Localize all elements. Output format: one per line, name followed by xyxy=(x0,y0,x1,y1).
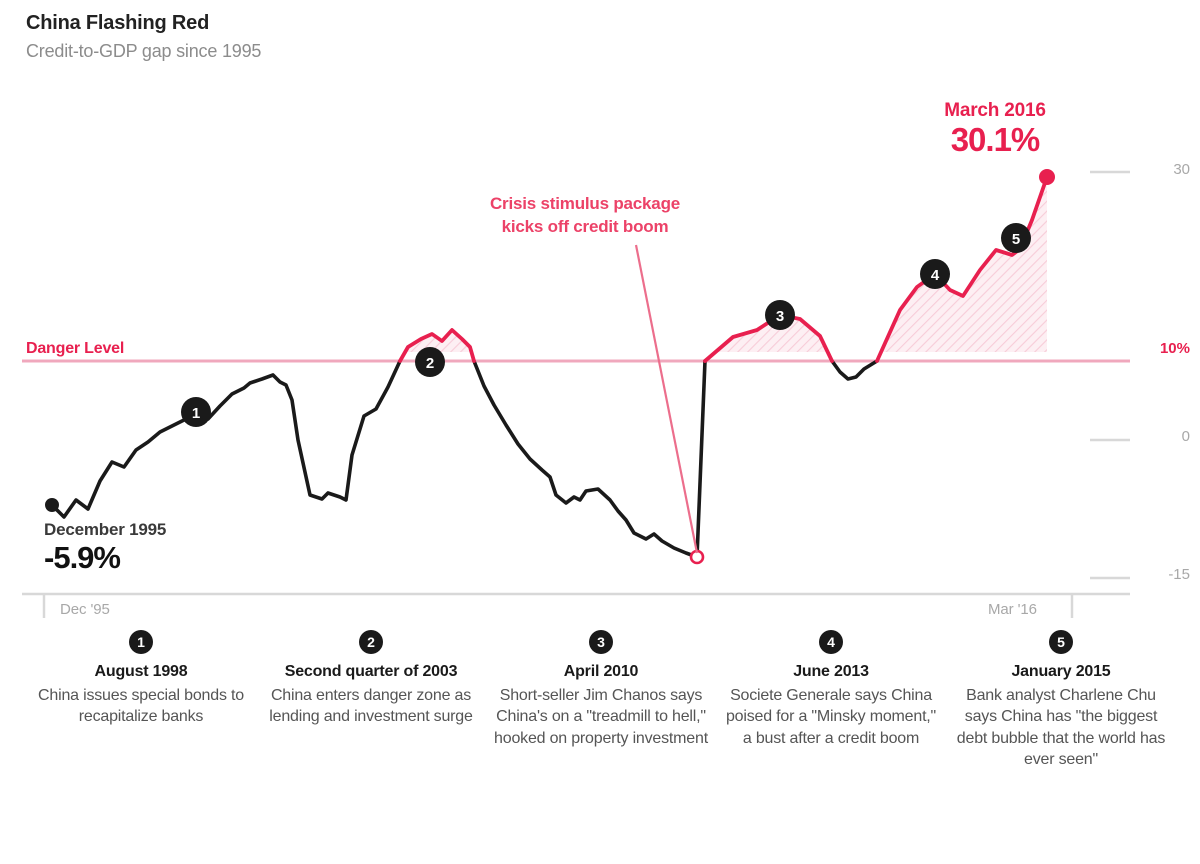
x-tick-end: Mar '16 xyxy=(988,601,1037,618)
footnote-badge-4: 4 xyxy=(819,630,843,654)
svg-text:1: 1 xyxy=(192,405,200,422)
crisis-stimulus-annotation: Crisis stimulus package kicks off credit… xyxy=(435,193,735,239)
footnote-item-2: 2 Second quarter of 2003 China enters da… xyxy=(256,630,486,771)
footnote-body-4: Societe Generale says China poised for a… xyxy=(724,685,938,749)
svg-text:5: 5 xyxy=(1012,231,1020,248)
start-value-annotation: December 1995 -5.9% xyxy=(44,520,274,575)
footnote-title-3: April 2010 xyxy=(494,662,708,683)
x-axis xyxy=(22,594,1130,618)
start-value-date: December 1995 xyxy=(44,520,274,540)
end-value-number: 30.1% xyxy=(880,123,1110,158)
x-tick-start: Dec '95 xyxy=(60,601,110,618)
footnote-body-1: China issues special bonds to recapitali… xyxy=(34,685,248,728)
gridlines xyxy=(1090,172,1130,578)
footnote-title-4: June 2013 xyxy=(724,662,938,683)
y-tick-30: 30 xyxy=(1130,161,1190,178)
chart-marker-1: 1 xyxy=(181,397,211,427)
y-tick-neg15: -15 xyxy=(1130,566,1190,583)
footnote-body-5: Bank analyst Charlene Chu says China has… xyxy=(954,685,1168,771)
end-point-marker xyxy=(1039,169,1055,185)
footnote-title-1: August 1998 xyxy=(34,662,248,683)
footnote-list: 1 August 1998 China issues special bonds… xyxy=(26,630,1176,771)
chart-marker-3: 3 xyxy=(765,300,795,330)
footnote-title-5: January 2015 xyxy=(954,662,1168,683)
footnote-item-3: 3 April 2010 Short-seller Jim Chanos say… xyxy=(486,630,716,771)
footnote-item-1: 1 August 1998 China issues special bonds… xyxy=(26,630,256,771)
end-value-annotation: March 2016 30.1% xyxy=(880,100,1110,158)
footnote-badge-5: 5 xyxy=(1049,630,1073,654)
footnote-item-5: 5 January 2015 Bank analyst Charlene Chu… xyxy=(946,630,1176,771)
svg-text:4: 4 xyxy=(931,267,940,284)
y-tick-10-danger: 10% xyxy=(1130,340,1190,357)
infographic-root: China Flashing Red Credit-to-GDP gap sin… xyxy=(0,0,1200,864)
crisis-annotation-leader-line xyxy=(636,245,697,553)
footnote-title-2: Second quarter of 2003 xyxy=(264,662,478,683)
footnote-badge-2: 2 xyxy=(359,630,383,654)
y-tick-0: 0 xyxy=(1130,428,1190,445)
footnote-item-4: 4 June 2013 Societe Generale says China … xyxy=(716,630,946,771)
svg-text:3: 3 xyxy=(776,308,784,325)
footnote-badge-1: 1 xyxy=(129,630,153,654)
footnote-badge-3: 3 xyxy=(589,630,613,654)
footnote-body-2: China enters danger zone as lending and … xyxy=(264,685,478,728)
crisis-annotation-line-1: Crisis stimulus package xyxy=(435,193,735,216)
end-value-date: March 2016 xyxy=(880,100,1110,122)
chart-area: 1 2 3 4 5 xyxy=(0,0,1200,620)
chart-marker-5: 5 xyxy=(1001,223,1031,253)
start-value-number: -5.9% xyxy=(44,541,274,575)
danger-level-label: Danger Level xyxy=(26,340,124,358)
chart-marker-4: 4 xyxy=(920,259,950,289)
start-point-marker xyxy=(45,498,59,512)
footnote-body-3: Short-seller Jim Chanos says China's on … xyxy=(494,685,708,749)
chart-marker-2: 2 xyxy=(415,347,445,377)
svg-text:2: 2 xyxy=(426,355,434,372)
crisis-annotation-line-2: kicks off credit boom xyxy=(435,216,735,239)
